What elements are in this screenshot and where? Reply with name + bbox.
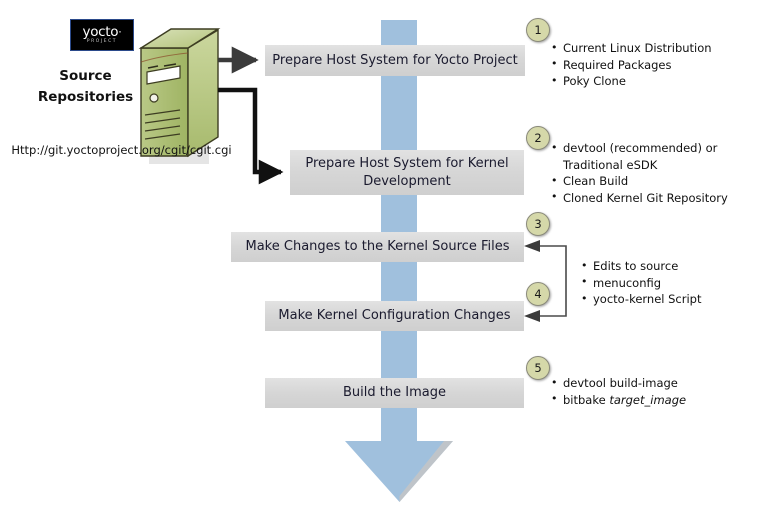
diagram-canvas: yocto· PROJECT Source Repositories Http:… bbox=[0, 0, 769, 517]
list-item: menuconfig bbox=[581, 275, 702, 292]
source-repositories-caption: Source Repositories bbox=[8, 66, 163, 108]
process-box-step1[interactable]: Prepare Host System for Yocto Project bbox=[265, 45, 525, 76]
logo-subtext: PROJECT bbox=[87, 40, 117, 44]
list-item: Poky Clone bbox=[551, 73, 712, 90]
list-item: Cloned Kernel Git Repository bbox=[551, 190, 728, 207]
caption-line-2: Repositories bbox=[8, 87, 163, 108]
process-box-step2[interactable]: Prepare Host System for Kernel Developme… bbox=[290, 150, 524, 195]
bullets-step3-step4: Edits to source menuconfig yocto-kernel … bbox=[581, 258, 702, 308]
bitbake-target-image: target_image bbox=[609, 393, 686, 407]
bullets-step5: devtool build-image bitbake target_image bbox=[551, 375, 686, 408]
step-number-3: 3 bbox=[526, 212, 550, 236]
bullets-step2: devtool (recommended) or Traditional eSD… bbox=[551, 140, 728, 206]
bullets-step1: Current Linux Distribution Required Pack… bbox=[551, 40, 712, 90]
logo-wordmark: yocto· bbox=[83, 26, 122, 40]
bitbake-prefix: bitbake bbox=[563, 393, 609, 407]
step-number-4: 4 bbox=[526, 282, 550, 306]
list-item: Clean Build bbox=[551, 173, 728, 190]
step-number-1: 1 bbox=[526, 18, 550, 42]
list-item: Current Linux Distribution bbox=[551, 40, 712, 57]
list-item: devtool build-image bbox=[551, 375, 686, 392]
process-box-step4[interactable]: Make Kernel Configuration Changes bbox=[265, 301, 524, 331]
list-item: devtool (recommended) or Traditional eSD… bbox=[551, 140, 723, 173]
process-box-step5[interactable]: Build the Image bbox=[265, 378, 524, 408]
arrowhead-into-step4 bbox=[524, 310, 540, 322]
list-item: bitbake target_image bbox=[551, 392, 686, 409]
yocto-project-logo: yocto· PROJECT bbox=[70, 19, 134, 51]
source-repositories-url: Http://git.yoctoproject.org/cgit/cgit.cg… bbox=[4, 143, 239, 157]
list-item: yocto-kernel Script bbox=[581, 291, 702, 308]
step-number-2: 2 bbox=[526, 126, 550, 150]
arrowhead-into-step3 bbox=[524, 240, 540, 252]
logo-dot: · bbox=[118, 25, 121, 38]
step-number-5: 5 bbox=[526, 356, 550, 380]
list-item: Edits to source bbox=[581, 258, 702, 275]
list-item: Required Packages bbox=[551, 57, 712, 74]
caption-line-1: Source bbox=[8, 66, 163, 87]
logo-word-text: yocto bbox=[83, 24, 119, 40]
connector-server-to-step2 bbox=[218, 90, 281, 172]
process-box-step3[interactable]: Make Changes to the Kernel Source Files bbox=[231, 232, 524, 262]
